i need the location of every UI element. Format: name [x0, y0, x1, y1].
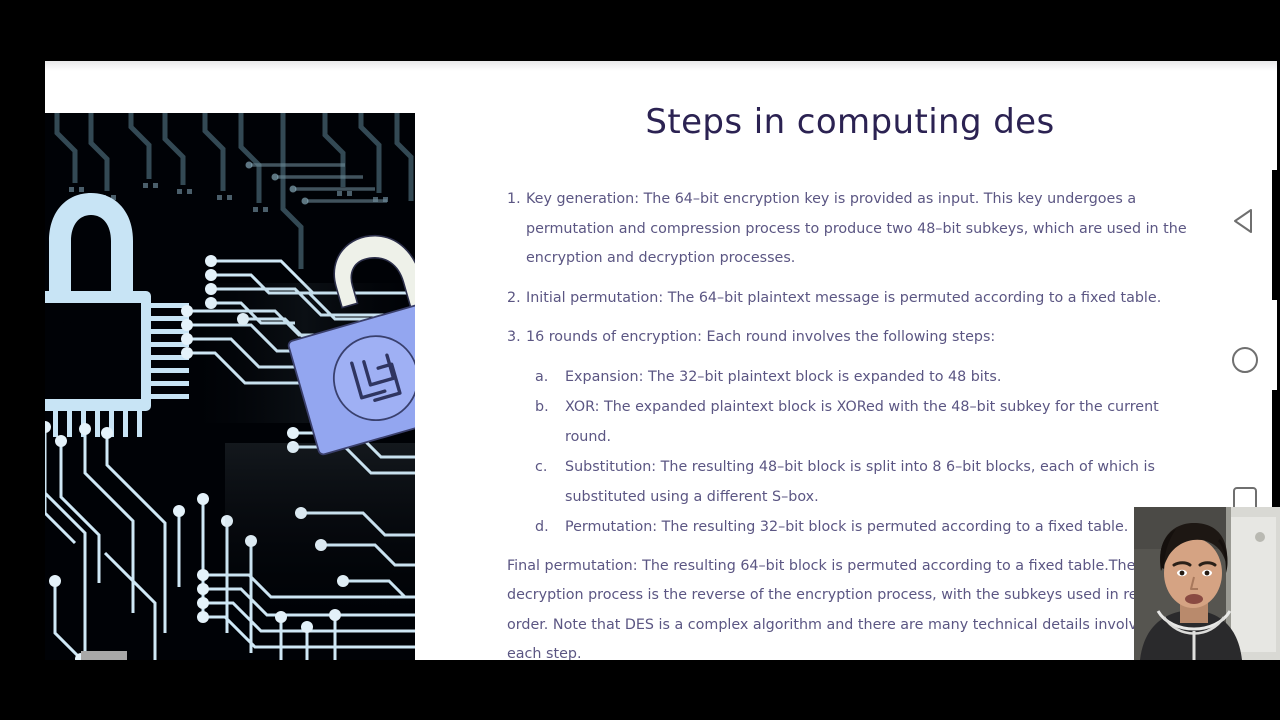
- avatar: [1134, 507, 1280, 660]
- step-number: 3.: [507, 323, 526, 353]
- step-text: Initial permutation: The 64–bit plaintex…: [526, 284, 1207, 314]
- final-paragraph: Final permutation: The resulting 64–bit …: [507, 552, 1207, 661]
- steps-list: 1. Key generation: The 64–bit encryption…: [507, 185, 1207, 660]
- presentation-slide: Steps in computing des 1. Key generation…: [45, 61, 1277, 660]
- back-triangle-icon[interactable]: [1228, 204, 1262, 238]
- presenter-webcam-overlay[interactable]: [1134, 507, 1280, 660]
- list-item: c. Substitution: The resulting 48–bit bl…: [535, 453, 1207, 512]
- step-text: 16 rounds of encryption: Each round invo…: [526, 323, 1207, 353]
- home-circle-icon[interactable]: [1228, 343, 1262, 377]
- step-number: 1.: [507, 185, 526, 215]
- substep-text: XOR: The expanded plaintext block is XOR…: [565, 399, 1159, 445]
- list-item: 1. Key generation: The 64–bit encryption…: [507, 185, 1207, 274]
- substep-marker: a.: [535, 363, 548, 393]
- step-text: Key generation: The 64–bit encryption ke…: [526, 185, 1207, 274]
- circuit-padlock-image: [45, 113, 415, 660]
- page-title: Steps in computing des: [423, 102, 1277, 142]
- list-item: d. Permutation: The resulting 32–bit blo…: [535, 513, 1207, 543]
- substep-marker: d.: [535, 513, 549, 543]
- list-item: 3. 16 rounds of encryption: Each round i…: [507, 323, 1207, 353]
- screen-edge-bar: [1272, 390, 1280, 510]
- video-frame: Steps in computing des 1. Key generation…: [0, 0, 1280, 720]
- substep-text: Permutation: The resulting 32–bit block …: [565, 519, 1128, 535]
- substep-text: Expansion: The 32–bit plaintext block is…: [565, 369, 1001, 385]
- circuit-board-illustration: [45, 113, 415, 660]
- list-item: 2. Initial permutation: The 64–bit plain…: [507, 284, 1207, 314]
- step-number: 2.: [507, 284, 526, 314]
- list-item: a. Expansion: The 32–bit plaintext block…: [535, 363, 1207, 393]
- substep-text: Substitution: The resulting 48–bit block…: [565, 459, 1155, 505]
- substep-marker: c.: [535, 453, 547, 483]
- slide-footer-chip: [81, 651, 127, 660]
- substeps-list: a. Expansion: The 32–bit plaintext block…: [535, 363, 1207, 543]
- screen-edge-bar: [1272, 170, 1280, 300]
- list-item: b. XOR: The expanded plaintext block is …: [535, 393, 1207, 452]
- substep-marker: b.: [535, 393, 549, 423]
